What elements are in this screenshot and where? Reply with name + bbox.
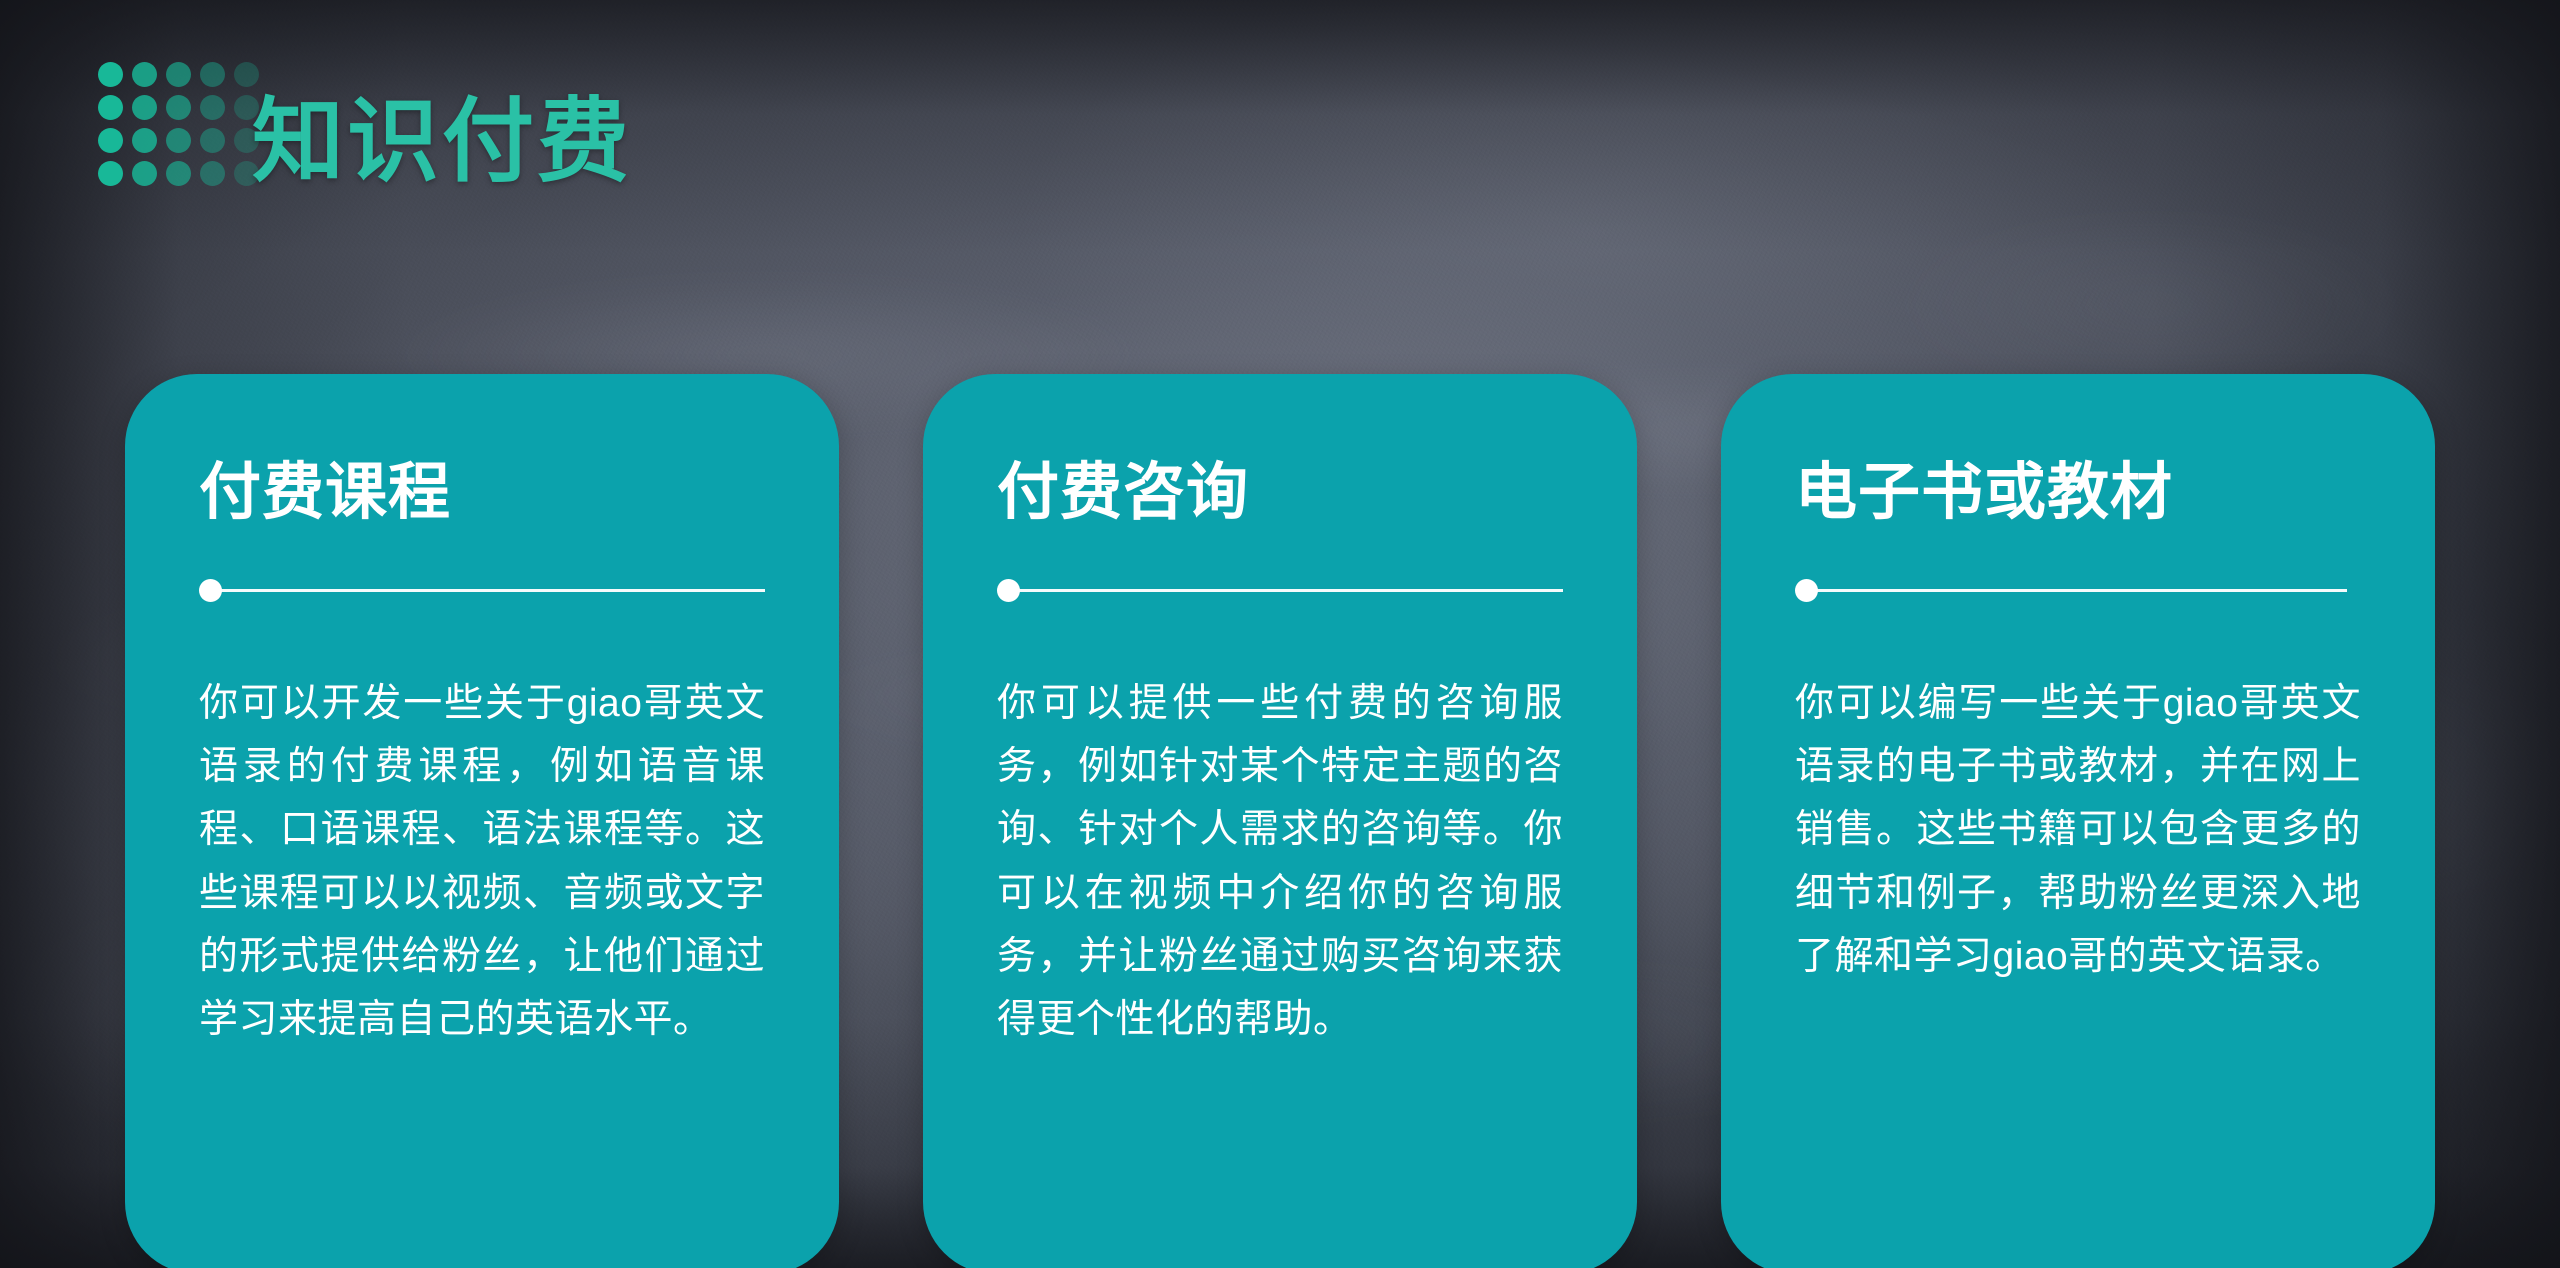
grid-dot — [200, 128, 225, 153]
card-title: 付费咨询 — [997, 460, 1563, 525]
card-paid-courses: 付费课程 你可以开发一些关于giao哥英文语录的付费课程，例如语音课程、口语课程… — [125, 374, 839, 1268]
card-divider — [1795, 579, 2361, 602]
grid-dot — [166, 95, 191, 120]
card-body-text: 你可以编写一些关于giao哥英文语录的电子书或教材，并在网上销售。这些书籍可以包… — [1795, 672, 2361, 988]
grid-dot — [200, 62, 225, 87]
divider-line — [220, 589, 765, 592]
grid-dot — [200, 95, 225, 120]
card-body-text: 你可以开发一些关于giao哥英文语录的付费课程，例如语音课程、口语课程、语法课程… — [199, 672, 765, 1051]
card-title: 付费课程 — [199, 460, 765, 525]
slide-header: 知识付费 — [0, 0, 2560, 230]
card-divider — [997, 579, 1563, 602]
divider-dot-icon — [1795, 579, 1818, 602]
grid-dot — [234, 62, 259, 87]
page-title: 知识付费 — [252, 96, 632, 188]
dot-grid-icon — [98, 62, 260, 187]
card-body-text: 你可以提供一些付费的咨询服务，例如针对某个特定主题的咨询、针对个人需求的咨询等。… — [997, 672, 1563, 1051]
grid-dot — [166, 161, 191, 186]
grid-dot — [98, 161, 123, 186]
card-paid-consulting: 付费咨询 你可以提供一些付费的咨询服务，例如针对某个特定主题的咨询、针对个人需求… — [923, 374, 1637, 1268]
card-divider — [199, 579, 765, 602]
divider-line — [1018, 589, 1563, 592]
grid-dot — [166, 128, 191, 153]
grid-dot — [98, 128, 123, 153]
grid-dot — [98, 62, 123, 87]
grid-dot — [166, 62, 191, 87]
card-title: 电子书或教材 — [1795, 460, 2361, 525]
divider-dot-icon — [199, 579, 222, 602]
card-ebook-or-textbook: 电子书或教材 你可以编写一些关于giao哥英文语录的电子书或教材，并在网上销售。… — [1721, 374, 2435, 1268]
grid-dot — [200, 161, 225, 186]
grid-dot — [132, 128, 157, 153]
grid-dot — [98, 95, 123, 120]
card-list: 付费课程 你可以开发一些关于giao哥英文语录的付费课程，例如语音课程、口语课程… — [0, 374, 2560, 1268]
grid-dot — [132, 161, 157, 186]
divider-line — [1816, 589, 2347, 592]
grid-dot — [132, 62, 157, 87]
divider-dot-icon — [997, 579, 1020, 602]
grid-dot — [132, 95, 157, 120]
slide-root: 知识付费 付费课程 你可以开发一些关于giao哥英文语录的付费课程，例如语音课程… — [0, 0, 2560, 1268]
